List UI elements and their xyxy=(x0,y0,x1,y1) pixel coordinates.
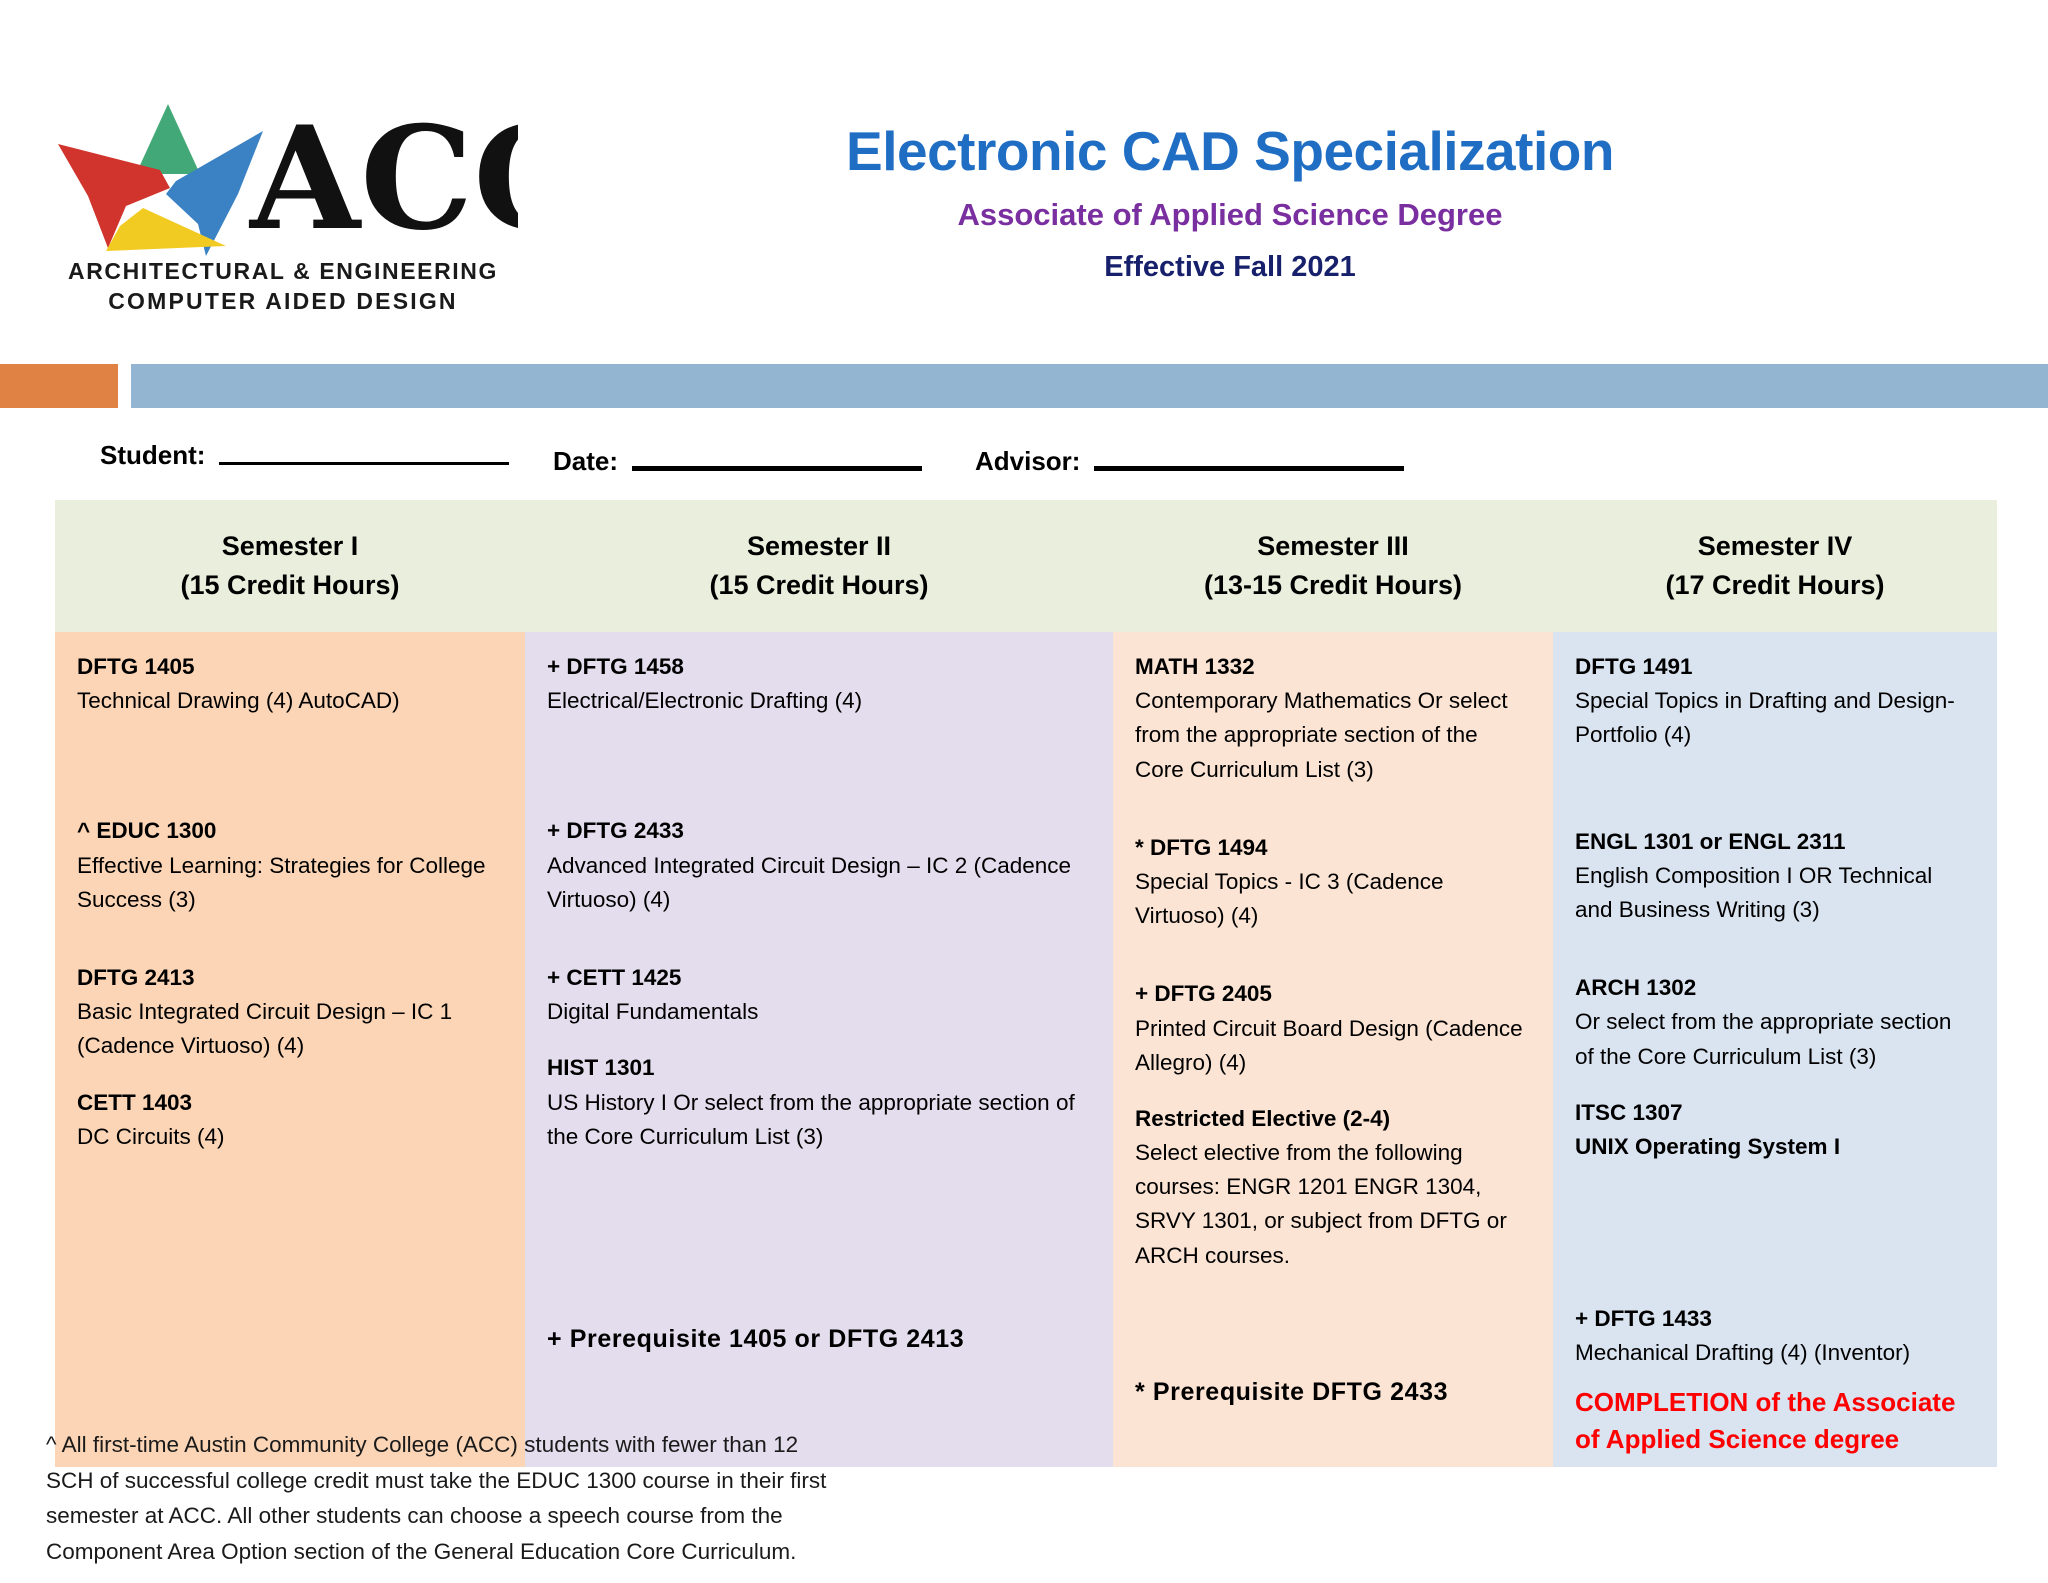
course-description: Special Topics in Drafting and Design-Po… xyxy=(1575,684,1975,752)
semester-credits: (17 Credit Hours) xyxy=(1553,566,1997,605)
page-subtitle: Associate of Applied Science Degree xyxy=(520,197,1940,233)
course-description: Technical Drawing (4) AutoCAD) xyxy=(77,684,503,718)
course-code: + DFTG 1433 xyxy=(1575,1302,1975,1336)
course-description: UNIX Operating System I xyxy=(1575,1130,1975,1164)
title-block: Electronic CAD Specialization Associate … xyxy=(520,120,1940,284)
course-item: DFTG 2413 Basic Integrated Circuit Desig… xyxy=(77,961,503,1064)
course-code: DFTG 1405 xyxy=(77,650,503,684)
course-item: + DFTG 2433 Advanced Integrated Circuit … xyxy=(547,814,1091,917)
semester-title: Semester III xyxy=(1113,527,1553,566)
course-item: MATH 1332 Contemporary Mathematics Or se… xyxy=(1135,650,1531,787)
spacer xyxy=(1575,927,1975,971)
semester-credits: (15 Credit Hours) xyxy=(525,566,1113,605)
course-description: Special Topics - IC 3 (Cadence Virtuoso)… xyxy=(1135,865,1531,933)
semester-credits: (13-15 Credit Hours) xyxy=(1113,566,1553,605)
advisor-label: Advisor: xyxy=(975,446,1080,477)
column-header-semester-2: Semester II (15 Credit Hours) xyxy=(525,500,1113,632)
logo-subtitle-line2: COMPUTER AIDED DESIGN xyxy=(48,288,518,315)
spacer xyxy=(1135,933,1531,977)
course-item: + DFTG 1458 Electrical/Electronic Drafti… xyxy=(547,650,1091,718)
footnote: ^ All first-time Austin Community Colleg… xyxy=(46,1427,1006,1569)
footnote-line-3: semester at ACC. All other students can … xyxy=(46,1498,1006,1534)
student-info-row: Student: Date: Advisor: xyxy=(0,440,2048,488)
page-title: Electronic CAD Specialization xyxy=(520,120,1940,183)
student-field[interactable]: Student: xyxy=(100,440,509,471)
date-label: Date: xyxy=(553,446,618,477)
spacer xyxy=(77,1064,503,1086)
course-code: + CETT 1425 xyxy=(547,961,1091,995)
column-header-semester-1: Semester I (15 Credit Hours) xyxy=(55,500,525,632)
course-description: Mechanical Drafting (4) (Inventor) xyxy=(1575,1336,1975,1370)
prerequisite-note: * Prerequisite DFTG 2433 xyxy=(1135,1373,1531,1411)
course-code: ENGL 1301 or ENGL 2311 xyxy=(1575,825,1975,859)
table-body-row: DFTG 1405 Technical Drawing (4) AutoCAD)… xyxy=(55,632,1997,1467)
footnote-line-4: Component Area Option section of the Gen… xyxy=(46,1534,1006,1570)
column-header-semester-4: Semester IV (17 Credit Hours) xyxy=(1553,500,1997,632)
course-code: Restricted Elective (2-4) xyxy=(1135,1102,1531,1136)
spacer xyxy=(77,718,503,814)
semester-title: Semester IV xyxy=(1553,527,1997,566)
course-description: Effective Learning: Strategies for Colle… xyxy=(77,849,503,917)
student-label: Student: xyxy=(100,440,205,471)
course-item: Restricted Elective (2-4) Select electiv… xyxy=(1135,1102,1531,1273)
acc-logo: ACC ARCHITECTURAL & ENGINEERING COMPUTER… xyxy=(48,96,518,321)
spacer xyxy=(547,1029,1091,1051)
prerequisite-note: + Prerequisite 1405 or DFTG 2413 xyxy=(547,1320,1091,1358)
course-code: ITSC 1307 xyxy=(1575,1096,1975,1130)
spacer xyxy=(1575,753,1975,825)
date-input-rule[interactable] xyxy=(632,466,922,471)
semester-title: Semester I xyxy=(55,527,525,566)
course-item: DFTG 1491 Special Topics in Drafting and… xyxy=(1575,650,1975,753)
course-item: HIST 1301 US History I Or select from th… xyxy=(547,1051,1091,1154)
semester-1-cell: DFTG 1405 Technical Drawing (4) AutoCAD)… xyxy=(55,632,525,1467)
spacer xyxy=(1135,1080,1531,1102)
spacer xyxy=(547,718,1091,814)
footnote-line-1: ^ All first-time Austin Community Colleg… xyxy=(46,1427,1006,1463)
course-description: Basic Integrated Circuit Design – IC 1 (… xyxy=(77,995,503,1063)
spacer xyxy=(547,917,1091,961)
course-code: MATH 1332 xyxy=(1135,650,1531,684)
effective-date: Effective Fall 2021 xyxy=(520,251,1940,284)
semester-credits: (15 Credit Hours) xyxy=(55,566,525,605)
course-item: CETT 1403 DC Circuits (4) xyxy=(77,1086,503,1154)
svg-text:ACC: ACC xyxy=(248,96,518,256)
course-code: DFTG 1491 xyxy=(1575,650,1975,684)
semester-2-cell: + DFTG 1458 Electrical/Electronic Drafti… xyxy=(525,632,1113,1467)
course-code: + DFTG 1458 xyxy=(547,650,1091,684)
course-item: + DFTG 1433 Mechanical Drafting (4) (Inv… xyxy=(1575,1302,1975,1370)
table-header-row: Semester I (15 Credit Hours) Semester II… xyxy=(55,500,1997,632)
course-code: + DFTG 2433 xyxy=(547,814,1091,848)
course-item: DFTG 1405 Technical Drawing (4) AutoCAD) xyxy=(77,650,503,718)
course-description: Electrical/Electronic Drafting (4) xyxy=(547,684,1091,718)
course-description: Advanced Integrated Circuit Design – IC … xyxy=(547,849,1091,917)
course-description: Printed Circuit Board Design (Cadence Al… xyxy=(1135,1012,1531,1080)
advisor-input-rule[interactable] xyxy=(1094,466,1404,471)
course-code: CETT 1403 xyxy=(77,1086,503,1120)
logo-subtitle-line1: ARCHITECTURAL & ENGINEERING xyxy=(48,258,518,285)
course-description: English Composition I OR Technical and B… xyxy=(1575,859,1975,927)
course-code: * DFTG 1494 xyxy=(1135,831,1531,865)
acc-star-logo-icon: ACC xyxy=(48,96,518,256)
course-description: Digital Fundamentals xyxy=(547,995,1091,1029)
degree-plan-table: Semester I (15 Credit Hours) Semester II… xyxy=(55,500,1997,1467)
course-description: Or select from the appropriate section o… xyxy=(1575,1005,1975,1073)
spacer xyxy=(1575,1164,1975,1302)
footnote-line-2: SCH of successful college credit must ta… xyxy=(46,1463,1006,1499)
semester-4-cell: DFTG 1491 Special Topics in Drafting and… xyxy=(1553,632,1997,1467)
student-input-rule[interactable] xyxy=(219,462,509,465)
course-item: ARCH 1302 Or select from the appropriate… xyxy=(1575,971,1975,1074)
accent-bar-blue xyxy=(131,364,2048,408)
column-header-semester-3: Semester III (13-15 Credit Hours) xyxy=(1113,500,1553,632)
course-item: + DFTG 2405 Printed Circuit Board Design… xyxy=(1135,977,1531,1080)
course-item: ENGL 1301 or ENGL 2311 English Compositi… xyxy=(1575,825,1975,928)
spacer xyxy=(1135,787,1531,831)
course-description: US History I Or select from the appropri… xyxy=(547,1086,1091,1154)
completion-statement: COMPLETION of the Associate of Applied S… xyxy=(1575,1384,1975,1457)
course-item: ^ EDUC 1300 Effective Learning: Strategi… xyxy=(77,814,503,917)
course-item: + CETT 1425 Digital Fundamentals xyxy=(547,961,1091,1029)
spacer xyxy=(1135,1273,1531,1373)
course-description: DC Circuits (4) xyxy=(77,1120,503,1154)
accent-bar-orange xyxy=(0,364,118,408)
course-code: + DFTG 2405 xyxy=(1135,977,1531,1011)
course-code: ^ EDUC 1300 xyxy=(77,814,503,848)
advisor-field[interactable]: Advisor: xyxy=(975,446,1404,477)
course-description: Select elective from the following cours… xyxy=(1135,1136,1531,1273)
course-item: ITSC 1307 UNIX Operating System I xyxy=(1575,1096,1975,1164)
semester-3-cell: MATH 1332 Contemporary Mathematics Or se… xyxy=(1113,632,1553,1467)
course-description: Contemporary Mathematics Or select from … xyxy=(1135,684,1531,787)
semester-title: Semester II xyxy=(525,527,1113,566)
course-code: HIST 1301 xyxy=(547,1051,1091,1085)
spacer xyxy=(547,1154,1091,1320)
course-code: ARCH 1302 xyxy=(1575,971,1975,1005)
course-item: * DFTG 1494 Special Topics - IC 3 (Caden… xyxy=(1135,831,1531,934)
course-code: DFTG 2413 xyxy=(77,961,503,995)
spacer xyxy=(77,917,503,961)
date-field[interactable]: Date: xyxy=(553,446,922,477)
spacer xyxy=(1575,1074,1975,1096)
